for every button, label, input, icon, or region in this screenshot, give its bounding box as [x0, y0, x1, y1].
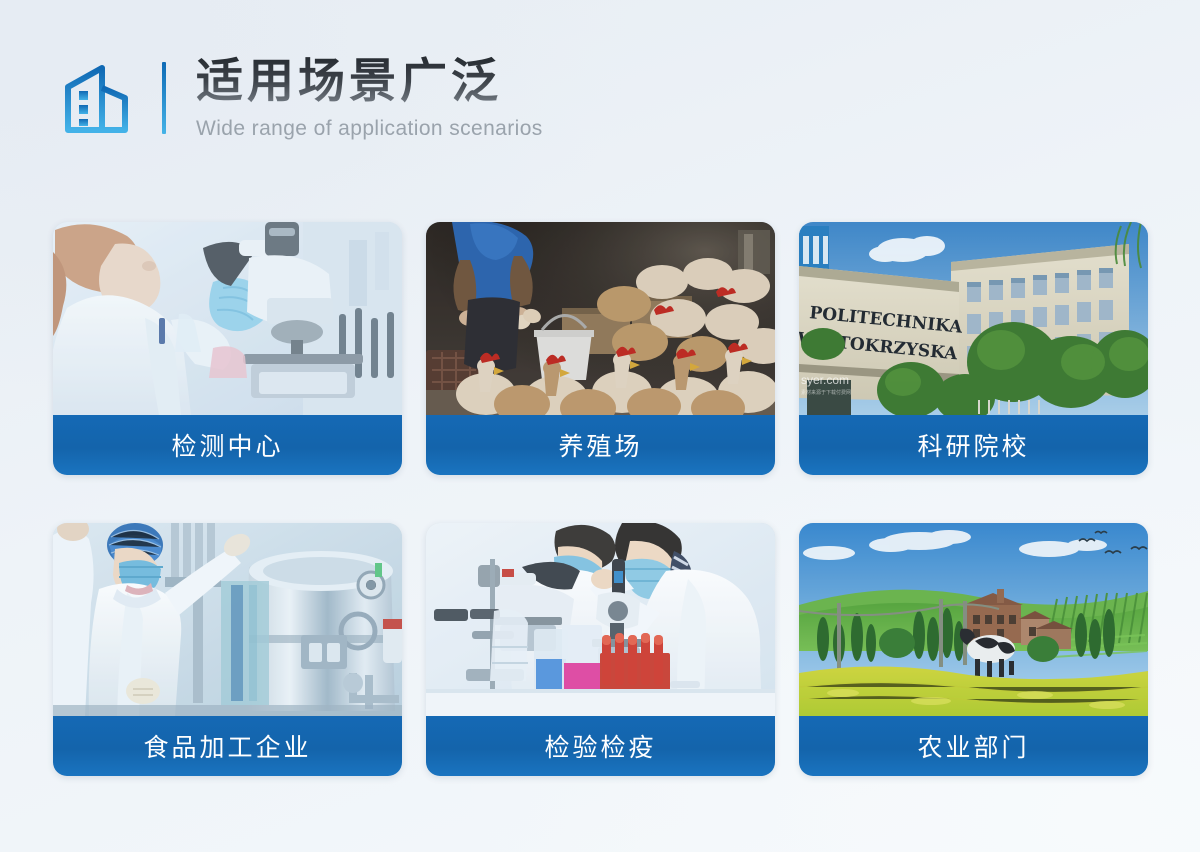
scenario-card-food-processing[interactable]: 食品加工企业 [53, 523, 402, 776]
application-scenarios-page: 适用场景广泛 Wide range of application scenari… [0, 0, 1200, 852]
detection-center-photo [53, 222, 402, 415]
page-title: 适用场景广泛 [196, 56, 543, 109]
inspection-quarantine-photo [426, 523, 775, 716]
scenario-card-label: 农业部门 [799, 716, 1148, 776]
svg-text:素材来源于下载付费网: 素材来源于下载付费网 [801, 389, 851, 396]
scenario-card-detection-center[interactable]: 检测中心 [53, 222, 402, 475]
header-divider [162, 62, 166, 134]
scenario-card-agriculture[interactable]: 农业部门 [799, 523, 1148, 776]
scenario-card-label: 养殖场 [426, 415, 775, 475]
research-institute-photo: POLITECHNIKA WIĘTOKRZYSKA [799, 222, 1148, 415]
building-icon [62, 60, 136, 136]
poultry-farm-photo [426, 222, 775, 415]
image-watermark: syer.com [801, 373, 849, 387]
food-processing-photo [53, 523, 402, 716]
scenario-card-inspection-quarantine[interactable]: 检验检疫 [426, 523, 775, 776]
page-subtitle: Wide range of application scenarios [196, 117, 543, 141]
scenario-card-label: 科研院校 [799, 415, 1148, 475]
scenario-card-label: 检验检疫 [426, 716, 775, 776]
agriculture-department-photo [799, 523, 1148, 716]
scenario-card-grid: 检测中心 [53, 222, 1148, 776]
scenario-card-label: 检测中心 [53, 415, 402, 475]
scenario-card-research-institute[interactable]: POLITECHNIKA WIĘTOKRZYSKA [799, 222, 1148, 475]
scenario-card-label: 食品加工企业 [53, 716, 402, 776]
header-text-block: 适用场景广泛 Wide range of application scenari… [196, 56, 543, 141]
section-header: 适用场景广泛 Wide range of application scenari… [62, 56, 543, 141]
scenario-card-poultry-farm[interactable]: 养殖场 [426, 222, 775, 475]
